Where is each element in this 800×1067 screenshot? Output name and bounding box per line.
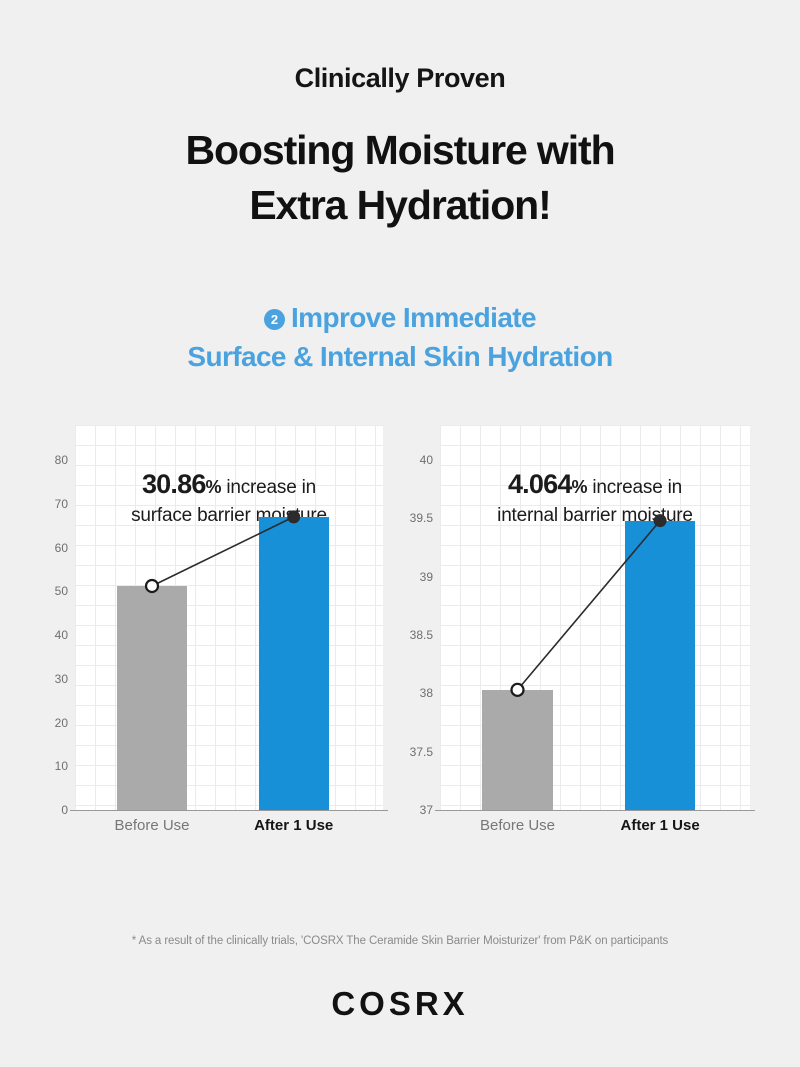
y-tick-label: 70: [55, 497, 75, 511]
y-tick-label: 39: [420, 570, 440, 584]
x-label-after-surface: After 1 Use: [254, 817, 333, 834]
y-tick-label: 80: [55, 453, 75, 467]
callout-value-surface: 30.86: [142, 469, 206, 499]
callout-line2-internal: internal barrier moisture: [440, 503, 750, 528]
charts-container: 30.86% increase in surface barrier moist…: [0, 415, 800, 855]
chart-surface-barrier-moisture: 30.86% increase in surface barrier moist…: [40, 415, 390, 855]
y-tick-label: 38: [420, 686, 440, 700]
callout-unit-surface: %: [206, 477, 222, 497]
brand-logo: COSRX: [0, 985, 800, 1023]
y-tick-label: 20: [55, 716, 75, 730]
eyebrow-text: Clinically Proven: [0, 62, 800, 94]
y-tick-label: 37.5: [410, 745, 440, 759]
subtitle-line-2: Surface & Internal Skin Hydration: [0, 337, 800, 377]
callout-value-internal: 4.064: [508, 469, 572, 499]
plot-area-surface: 30.86% increase in surface barrier moist…: [75, 425, 383, 810]
bar-after-1-use: [259, 517, 329, 810]
bar-before-use: [117, 586, 187, 810]
headline-line-2: Extra Hydration!: [249, 182, 550, 228]
footnote-text: * As a result of the clinically trials, …: [0, 935, 800, 947]
x-axis-line-surface: [70, 810, 388, 811]
x-label-before-internal: Before Use: [480, 817, 555, 834]
y-tick-label: 40: [55, 628, 75, 642]
chart-internal-barrier-moisture: 4.064% increase in internal barrier mois…: [400, 415, 760, 855]
bar-after-1-use: [625, 521, 696, 810]
x-labels-surface: Before Use After 1 Use: [75, 817, 383, 847]
callout-surface: 30.86% increase in surface barrier moist…: [75, 467, 383, 528]
x-label-after-internal: After 1 Use: [620, 817, 699, 834]
subtitle-text-1: Improve Immediate: [291, 302, 536, 333]
page-title: Boosting Moisture with Extra Hydration!: [0, 123, 800, 231]
x-labels-internal: Before Use After 1 Use: [440, 817, 750, 847]
callout-rest-surface: increase in: [221, 477, 316, 498]
callout-rest-internal: increase in: [587, 477, 682, 498]
y-tick-label: 30: [55, 672, 75, 686]
y-tick-label: 60: [55, 541, 75, 555]
plot-area-internal: 4.064% increase in internal barrier mois…: [440, 425, 750, 810]
y-tick-label: 40: [420, 453, 440, 467]
subtitle-line-1: 2Improve Immediate: [0, 298, 800, 338]
callout-internal: 4.064% increase in internal barrier mois…: [440, 467, 750, 528]
y-tick-label: 10: [55, 759, 75, 773]
callout-line2-surface: surface barrier moisture: [75, 503, 383, 528]
y-tick-label: 39.5: [410, 511, 440, 525]
header: Clinically Proven Boosting Moisture with…: [0, 0, 800, 232]
y-tick-label: 50: [55, 584, 75, 598]
section-subtitle: 2Improve Immediate Surface & Internal Sk…: [0, 298, 800, 378]
bar-before-use: [482, 690, 553, 810]
x-axis-line-internal: [435, 810, 755, 811]
y-tick-label: 38.5: [410, 628, 440, 642]
callout-unit-internal: %: [572, 477, 588, 497]
step-number-badge: 2: [264, 309, 285, 330]
x-label-before-surface: Before Use: [114, 817, 189, 834]
headline-line-1: Boosting Moisture with: [185, 127, 614, 173]
